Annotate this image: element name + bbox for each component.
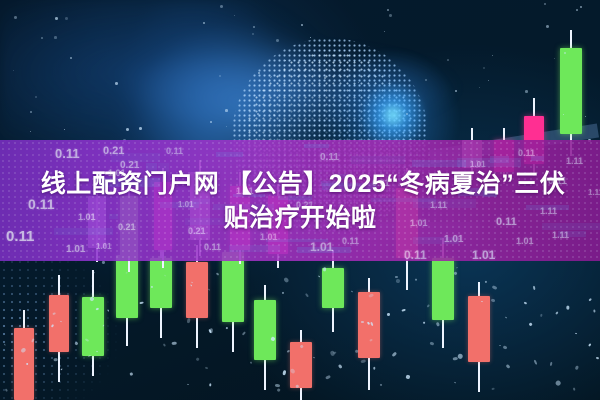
particle [242, 331, 246, 335]
particle [270, 336, 276, 341]
particle [384, 31, 385, 32]
particle [425, 79, 427, 81]
particle [285, 60, 286, 61]
particle [361, 359, 366, 363]
particle [533, 286, 536, 291]
particle [20, 347, 26, 353]
particle [172, 342, 177, 345]
particle [575, 365, 579, 369]
particle [389, 14, 392, 17]
particle [54, 358, 58, 362]
particle [102, 261, 106, 264]
particle [415, 278, 418, 281]
particle [406, 374, 411, 379]
particle [580, 6, 582, 8]
particle [481, 301, 483, 302]
particle [370, 322, 373, 326]
particle [96, 351, 98, 353]
particle [483, 67, 485, 69]
particle [310, 37, 311, 38]
particle [208, 289, 210, 291]
particle [5, 388, 8, 391]
particle [54, 36, 57, 39]
particle [540, 314, 543, 317]
particle [589, 298, 592, 301]
particle [505, 316, 507, 318]
particle [427, 304, 430, 307]
particle [491, 298, 496, 303]
particle [30, 131, 31, 132]
particle [53, 313, 56, 315]
particle [313, 357, 315, 359]
particle [550, 362, 553, 367]
particle [163, 343, 166, 346]
particle [564, 52, 566, 54]
particle [64, 129, 65, 130]
particle [289, 368, 295, 375]
particle [60, 321, 62, 323]
particle [14, 16, 17, 19]
particle [455, 90, 457, 92]
particle [454, 382, 456, 384]
particle [301, 24, 303, 26]
particle [299, 344, 303, 348]
particle [528, 322, 532, 327]
particle [488, 80, 489, 81]
particle [585, 116, 586, 117]
particle [35, 96, 37, 98]
particle [396, 279, 401, 283]
particle [258, 72, 260, 74]
particle [544, 3, 546, 5]
particle [273, 114, 275, 116]
particle [287, 349, 291, 352]
particle [575, 333, 577, 335]
particle [140, 302, 144, 305]
particle [70, 57, 72, 59]
particle [430, 341, 434, 345]
particle [387, 313, 391, 316]
particle [282, 370, 286, 375]
particle [96, 308, 99, 311]
particle [361, 321, 364, 323]
particle [85, 338, 89, 342]
particle [151, 286, 154, 288]
particle [324, 77, 326, 79]
particle [190, 284, 193, 287]
particle [395, 276, 398, 278]
particle [284, 277, 290, 283]
particle [323, 267, 326, 271]
particle [326, 375, 331, 379]
particle [41, 37, 43, 39]
particle [226, 126, 227, 127]
particle [244, 94, 246, 96]
particle [250, 362, 251, 364]
particle [31, 338, 35, 342]
headline-block: 线上配资门户网 【公告】2025“冬病夏治”三伏 贴治疗开始啦 [0, 140, 600, 261]
particle [456, 267, 458, 269]
particle [458, 353, 463, 359]
particle [524, 302, 527, 304]
particle [358, 82, 359, 83]
particle [115, 82, 118, 85]
particle [588, 343, 592, 347]
particle [479, 87, 480, 88]
particle [447, 59, 449, 61]
particle [436, 322, 440, 327]
particle [392, 352, 397, 357]
particle [126, 128, 129, 131]
particle [593, 309, 595, 312]
particle [533, 360, 537, 365]
particle [485, 281, 487, 284]
particle [220, 5, 223, 8]
particle [503, 345, 508, 350]
particle [492, 55, 493, 56]
particle [282, 292, 284, 294]
particle [402, 308, 406, 311]
particle [492, 388, 495, 390]
particle [30, 111, 32, 113]
particle [276, 39, 279, 42]
particle [225, 109, 228, 112]
particle [164, 275, 166, 277]
particle [88, 354, 91, 356]
particle [506, 364, 511, 369]
particle [252, 33, 254, 35]
particle [338, 364, 343, 370]
particle [423, 321, 426, 324]
particle [296, 384, 300, 388]
particle [525, 90, 528, 93]
particle [126, 272, 128, 274]
particle [546, 25, 549, 28]
particle [226, 327, 228, 329]
banner-image: 0.110.110.111.011.011.010.210.211.010.11… [0, 0, 600, 400]
headline-line-1: 线上配资门户网 【公告】2025“冬病夏治”三伏 [35, 168, 566, 200]
particle [555, 380, 562, 387]
particle [573, 387, 575, 390]
particle [187, 384, 189, 386]
particle [75, 341, 79, 345]
headline-line-2: 贴治疗开始啦 [223, 202, 376, 234]
particle [275, 384, 280, 387]
particle [499, 345, 501, 347]
particle [373, 367, 375, 370]
particle [203, 22, 205, 24]
particle [196, 357, 200, 361]
particle [253, 26, 255, 28]
particle [563, 114, 564, 115]
particle [61, 369, 63, 371]
particle [139, 127, 142, 130]
particle [370, 339, 373, 342]
particle [277, 388, 281, 392]
particle [369, 293, 374, 298]
particle [387, 9, 389, 11]
particle [555, 311, 559, 315]
particle [13, 70, 14, 71]
particle [210, 121, 212, 123]
particle [4, 344, 6, 346]
particle [65, 17, 68, 20]
particle [257, 113, 259, 115]
particle [351, 290, 353, 292]
particle [596, 357, 599, 360]
particle [454, 271, 458, 275]
particle [491, 285, 497, 290]
particle [186, 318, 190, 324]
particle [102, 324, 104, 327]
particle [234, 15, 235, 16]
particle [130, 373, 133, 376]
particle [305, 293, 309, 297]
particle [216, 272, 220, 276]
particle [566, 306, 569, 310]
particle [406, 113, 408, 115]
particle [89, 296, 94, 301]
particle [380, 384, 383, 387]
particle [93, 272, 95, 274]
particle [55, 17, 58, 20]
particle [210, 383, 212, 386]
particle [51, 324, 54, 328]
particle [219, 75, 221, 77]
particle [318, 275, 321, 277]
particle [355, 350, 358, 354]
particle [576, 9, 578, 11]
particle [191, 282, 193, 284]
particle [107, 309, 109, 311]
particle [26, 363, 29, 366]
particle [554, 58, 555, 59]
particle [205, 367, 209, 370]
